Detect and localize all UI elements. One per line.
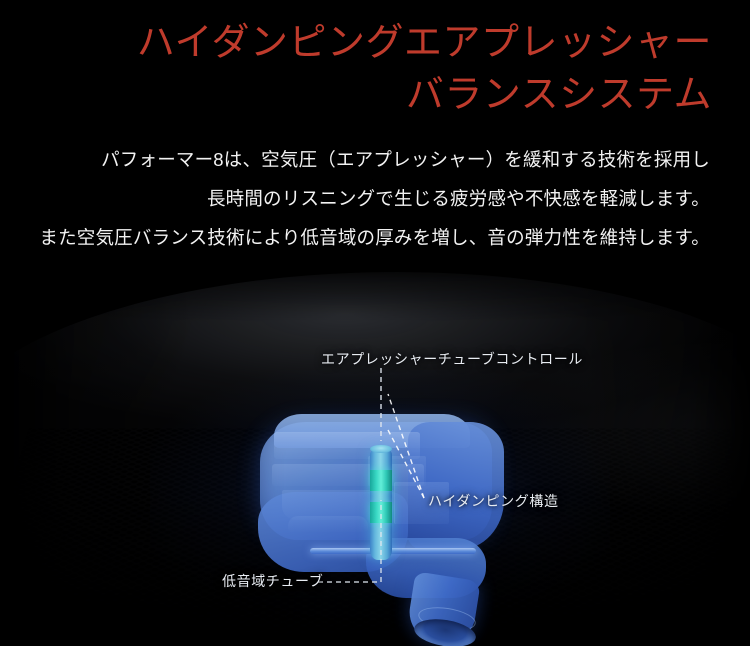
air-pressure-tube-cap xyxy=(370,445,392,453)
text-panel: ハイダンピングエアプレッシャー バランスシステム パフォーマー8は、空気圧（エア… xyxy=(0,0,750,272)
internal-chamber-step-1 xyxy=(274,432,420,459)
driver-base xyxy=(288,516,368,532)
heading-line-1: ハイダンピングエアプレッシャー xyxy=(0,18,712,68)
earphone-cutaway-model xyxy=(258,408,518,623)
damping-band-lower xyxy=(370,502,392,523)
product-photo xyxy=(0,260,750,646)
heading-line-2: バランスシステム xyxy=(0,70,712,120)
low-frequency-tube-bar xyxy=(310,548,476,554)
body-line-2: 長時間のリスニングで生じる疲労感や不快感を軽減します。 xyxy=(0,185,710,213)
callout-air-pressure-tube-control: エアプレッシャーチューブコントロール xyxy=(321,350,583,368)
product-feature-panel: エアプレッシャーチューブコントロール ハイダンピング構造 低音域チューブ ハイダ… xyxy=(0,0,750,646)
callout-low-frequency-tube: 低音域チューブ xyxy=(222,572,323,590)
body-line-3: また空気圧バランス技術により低音域の厚みを増し、音の弾力性を維持します。 xyxy=(0,224,710,252)
damping-band-upper xyxy=(370,470,392,491)
body-line-1: パフォーマー8は、空気圧（エアプレッシャー）を緩和する技術を採用し xyxy=(0,146,710,174)
callout-high-damping-structure: ハイダンピング構造 xyxy=(428,492,559,510)
